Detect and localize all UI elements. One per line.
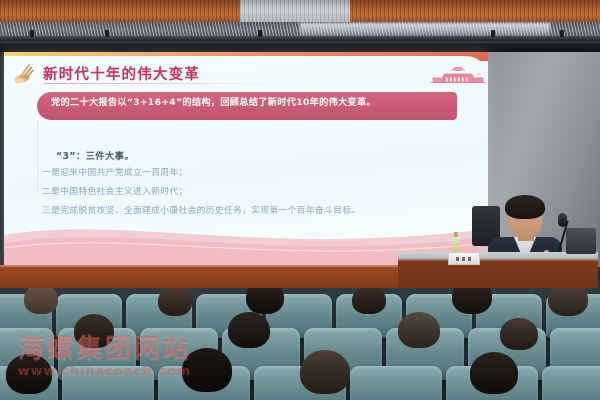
- desk-nameplate: [448, 252, 480, 265]
- watermark-site-name: 海螺集团网站: [18, 336, 248, 362]
- audience-head: [352, 288, 386, 314]
- slide-body-line-2: 二是中国特色社会主义进入新时代；: [42, 188, 482, 197]
- slide-title: 新时代十年的伟大变革: [43, 68, 200, 83]
- ceiling-spotlight: [560, 30, 564, 37]
- wheat-ribbon-icon: [12, 64, 38, 86]
- audience-seat: [350, 366, 442, 400]
- slide-body-block: “3”：三件大事。 一是迎来中国共产党成立一百周年； 二是中国特色社会主义进入新…: [42, 148, 482, 225]
- audience-head: [300, 350, 350, 394]
- ceiling-light-reflection: [300, 23, 550, 36]
- slide-body-heading: “3”：三件大事。: [56, 148, 482, 162]
- slide-surface: 新时代十年的伟大变革: [4, 52, 488, 267]
- audience-head: [246, 288, 284, 314]
- ceiling-spotlight: [105, 30, 109, 37]
- audience-head: [158, 288, 192, 316]
- desk-laptop: [566, 228, 596, 254]
- watermark: 海螺集团网站 www.chinaconch.com: [18, 336, 248, 378]
- slide-highlight-banner: 党的二十大报告以“3+16+4”的结构，回顾总结了新时代10年的伟大变革。: [37, 92, 457, 120]
- microphone-icon: [558, 213, 567, 227]
- audience-head: [500, 318, 538, 350]
- conference-hall-photo: 新时代十年的伟大变革: [0, 0, 600, 400]
- projection-screen: 新时代十年的伟大变革: [4, 52, 488, 267]
- ceiling-rail-upper: [0, 36, 600, 43]
- audience-head: [556, 358, 600, 398]
- great-hall-building-icon: [428, 66, 488, 88]
- ceiling-spotlight: [30, 30, 34, 37]
- slide-vertical-rule: [37, 122, 38, 192]
- slide-title-underline: [44, 83, 284, 84]
- audience-head: [398, 312, 440, 348]
- ceiling-rail-lower: [0, 43, 600, 52]
- audience-head: [470, 352, 518, 394]
- slide-body-line-3: 三是完成脱贫攻坚、全面建成小康社会的历史任务，实现第一个百年奋斗目标。: [42, 207, 482, 216]
- audience-head: [452, 288, 492, 314]
- audience-head: [548, 288, 588, 316]
- ceiling-spotlight: [491, 30, 495, 37]
- slide-body-line-1: 一是迎来中国共产党成立一百周年；: [42, 169, 482, 178]
- watermark-url: www.chinaconch.com: [18, 363, 248, 378]
- ceiling-center-panel: [240, 0, 350, 23]
- slide-banner-text: 党的二十大报告以“3+16+4”的结构，回顾总结了新时代10年的伟大变革。: [51, 96, 449, 109]
- presenter-hair: [505, 195, 545, 219]
- ceiling-spotlight: [258, 30, 262, 37]
- audience-head: [24, 288, 58, 314]
